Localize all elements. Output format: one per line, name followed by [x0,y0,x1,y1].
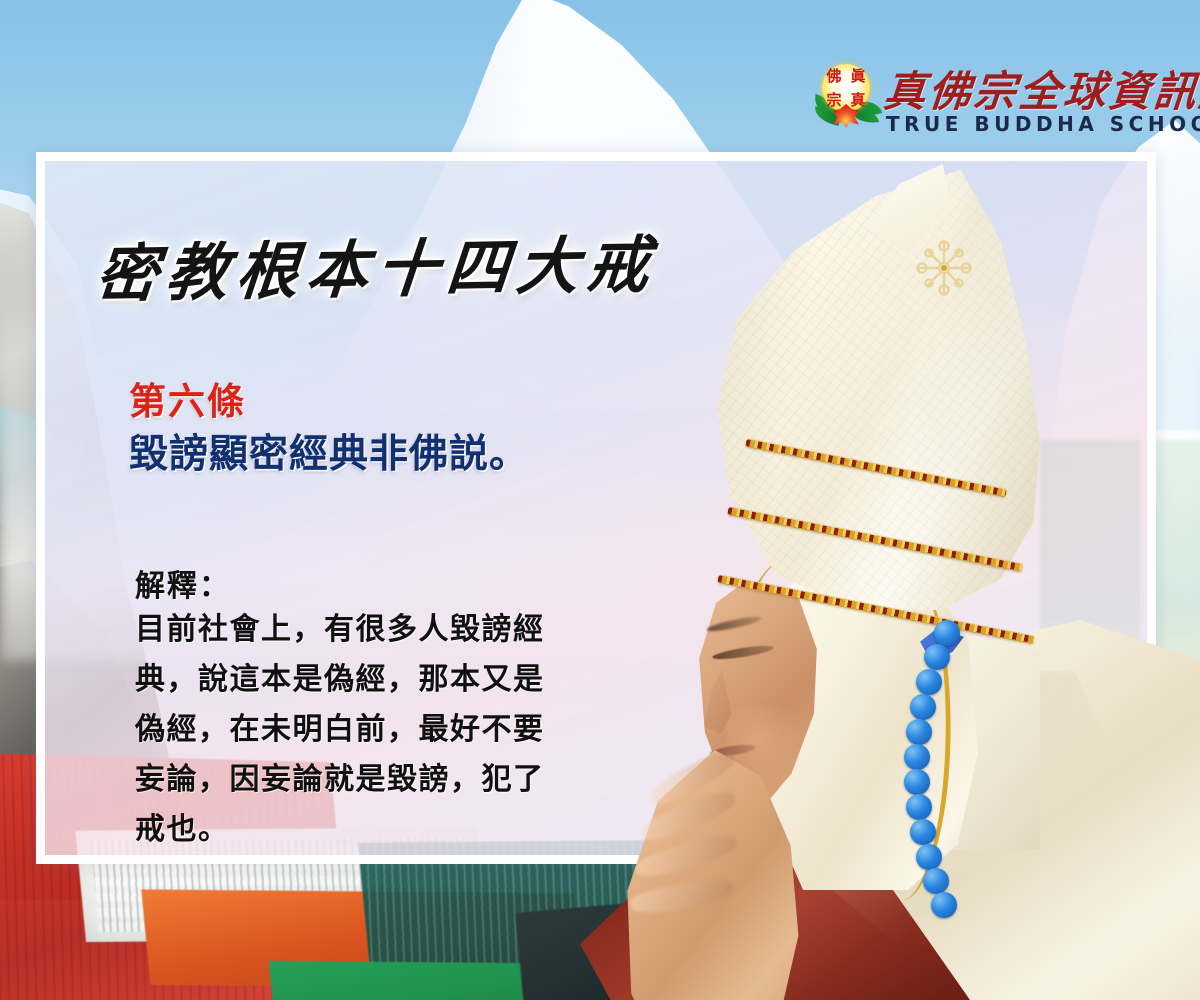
explanation-body: 目前社會上，有很多人毀謗經典，說這本是偽經，那本又是偽經，在未明白前，最好不要妄… [135,605,567,855]
emblem-char: 眞 [850,69,865,84]
rule-text: 毀謗顯密經典非佛説。 [129,423,529,479]
emblem-char: 宗 [826,93,841,108]
poster-canvas: 密教根本十四大戒 第六條 毀謗顯密經典非佛説。 解釋： 目前社會上，有很多人毀謗… [0,0,1200,1000]
hat-flower-ornament-icon [912,236,976,300]
emblem-char: 佛 [826,69,841,84]
explanation-label: 解釋： [135,561,231,605]
emblem-char: 真 [850,93,865,108]
master-figure [560,150,1200,1000]
mala-beads [890,620,1020,950]
rule-number: 第六條 [129,371,246,425]
logo-english-name: TRUE BUDDHA SCHOOL NET [886,112,1200,136]
site-logo[interactable]: 佛 眞 宗 真 真佛宗全球資訊網 TRUE BUDDHA SCHOOL NET [812,58,1162,150]
school-emblem-icon: 佛 眞 宗 真 [812,64,880,132]
logo-chinese-name: 真佛宗全球資訊網 [881,58,1200,119]
hat-shading [710,170,1040,610]
